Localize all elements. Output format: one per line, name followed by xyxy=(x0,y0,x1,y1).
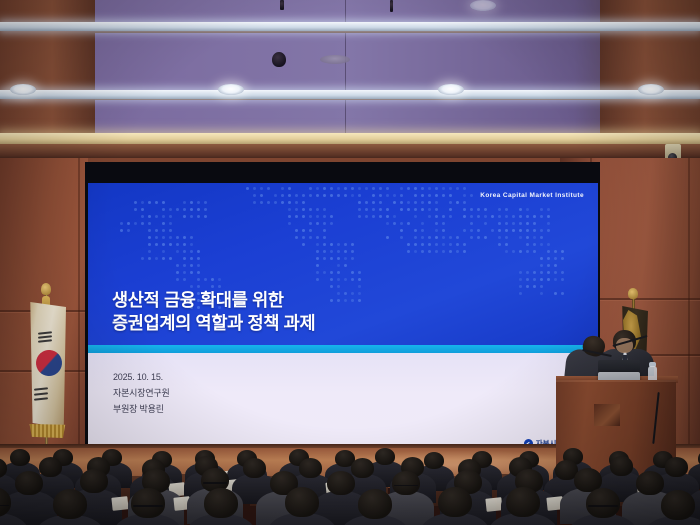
downlight-icon xyxy=(470,0,496,11)
flag-fringe xyxy=(28,424,66,438)
ceiling-rod xyxy=(390,0,393,12)
downlight-icon xyxy=(638,84,664,95)
kcmi-wordmark: Korea Capital Market Institute xyxy=(480,192,584,199)
ceiling xyxy=(0,0,700,160)
wall-trim xyxy=(78,158,80,458)
slide-date: 2025. 10. 15. xyxy=(113,369,170,385)
auditorium-scene: Korea Capital Market Institute 생산적 금융 확대… xyxy=(0,0,700,525)
ceiling-warm-light-strip xyxy=(0,133,700,144)
ceiling-light-strip xyxy=(0,90,700,99)
slide-upper-band: Korea Capital Market Institute 생산적 금융 확대… xyxy=(88,183,598,345)
slide-accent-stripe xyxy=(88,345,598,353)
slide-title: 생산적 금융 확대를 위한 증권업계의 역할과 정책 과제 xyxy=(112,289,315,335)
audience xyxy=(0,440,700,525)
ceiling-seam xyxy=(345,0,346,22)
slide-organization: 자본시장연구원 xyxy=(113,385,170,401)
ceiling-speaker-icon xyxy=(272,52,286,67)
downlight-icon xyxy=(10,84,36,95)
podium-front-panel xyxy=(594,404,620,426)
slide-metadata: 2025. 10. 15. 자본시장연구원 부원장 박용린 xyxy=(113,369,170,417)
slide-title-line1: 생산적 금융 확대를 위한 xyxy=(112,289,315,312)
wall-trim xyxy=(688,158,690,458)
ceiling-light-strip xyxy=(0,22,700,31)
ceiling-vent xyxy=(320,55,350,64)
downlight-icon xyxy=(218,84,244,95)
slide-presenter: 부원장 박용린 xyxy=(113,401,170,417)
ceiling-panel-upper xyxy=(0,0,700,22)
downlight-icon xyxy=(438,84,464,95)
ceiling-panel-middle xyxy=(0,33,700,91)
projection-screen: Korea Capital Market Institute 생산적 금융 확대… xyxy=(88,183,598,455)
flag-finial-icon xyxy=(41,283,51,295)
ceiling-rod xyxy=(280,0,284,10)
flag-finial-icon xyxy=(628,288,638,299)
slide-title-line2: 증권업계의 역할과 정책 과제 xyxy=(112,312,315,335)
